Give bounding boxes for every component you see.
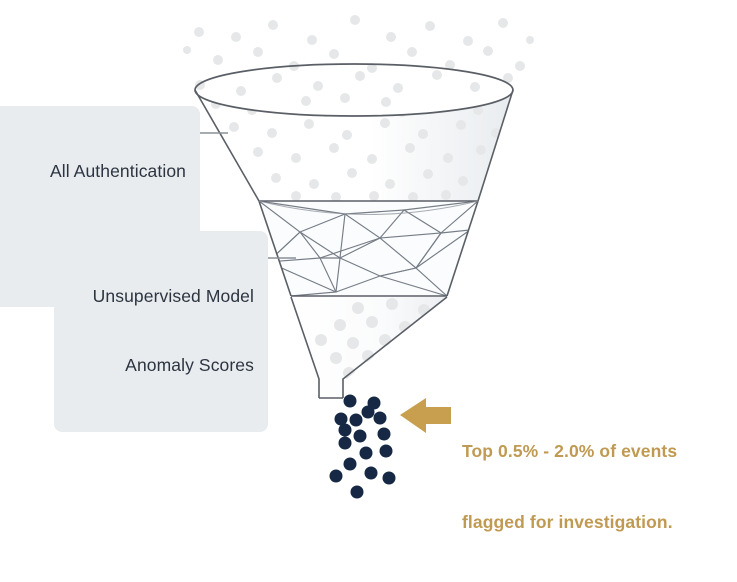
callout-1-line-1: All Authentication <box>0 160 186 183</box>
annotation-flagged-events: Top 0.5% - 2.0% of events flagged for in… <box>462 392 724 582</box>
input-dots-icon <box>183 15 534 107</box>
funnel-bowl <box>195 64 513 202</box>
callout-unsupervised-model-anomaly-scores: Unsupervised Model Anomaly Scores <box>54 231 268 432</box>
annotation-line-1: Top 0.5% - 2.0% of events <box>462 440 724 464</box>
output-dots-icon <box>330 395 396 499</box>
callout-2-line-1: Unsupervised Model <box>68 285 254 308</box>
annotation-line-2: flagged for investigation. <box>462 511 724 535</box>
callout-2-line-2: Anomaly Scores <box>68 354 254 377</box>
mesh-filter-icon <box>259 201 478 296</box>
funnel-diagram: All Authentication Events (Millions) Uns… <box>0 0 737 531</box>
left-arrow-icon <box>400 398 451 433</box>
funnel-stem <box>291 297 447 398</box>
